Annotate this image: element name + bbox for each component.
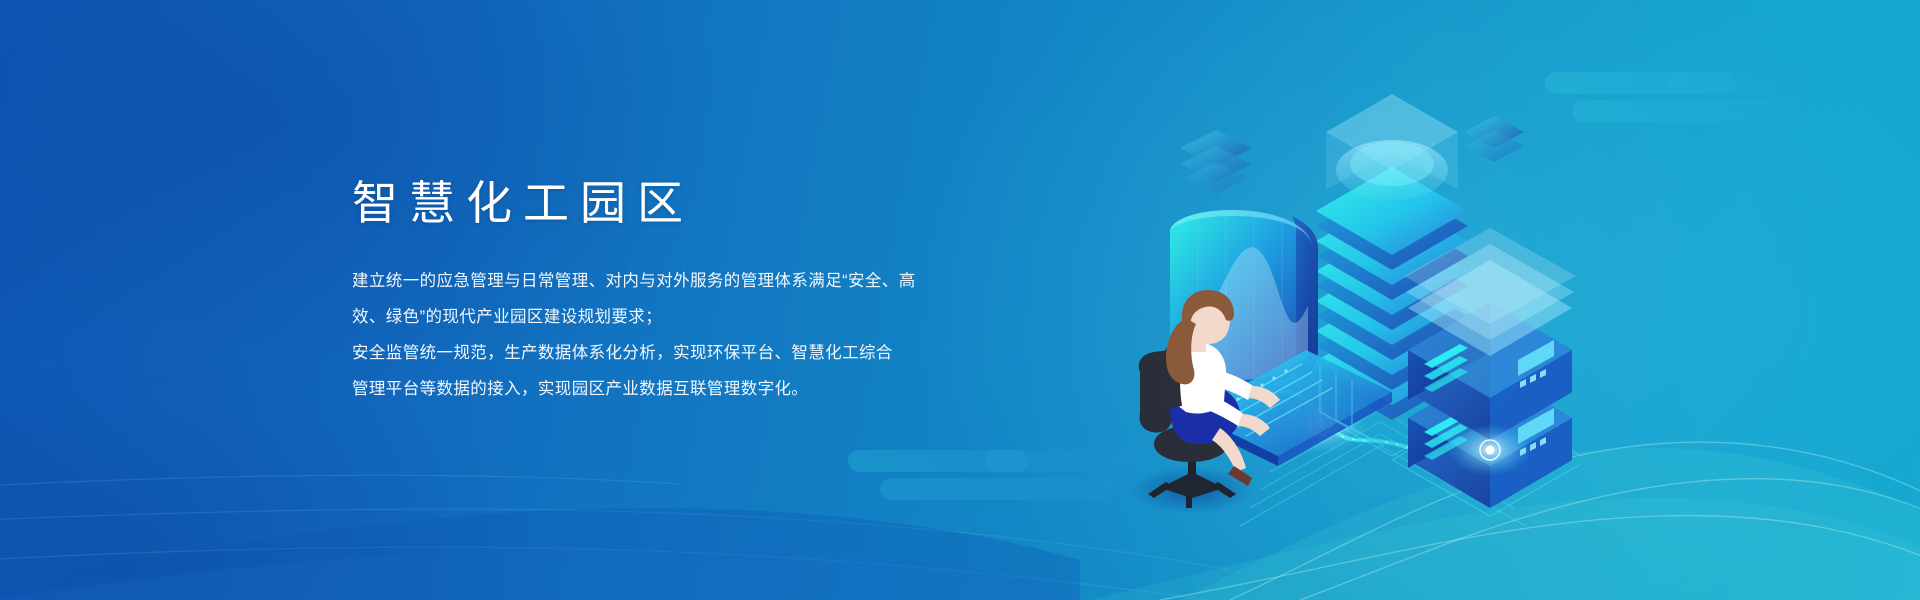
description-line-4: 管理平台等数据的接入，实现园区产业数据互联管理数字化。 (352, 371, 1072, 407)
floating-cube (1180, 130, 1252, 194)
description-line-3: 安全监管统一规范，生产数据体系化分析，实现环保平台、智慧化工综合 (352, 335, 1072, 371)
hero-description: 建立统一的应急管理与日常管理、对内与对外服务的管理体系满足“安全、高 效、绿色”… (352, 263, 1072, 407)
cloud-bar-top-right-3 (1668, 72, 1808, 94)
description-line-1: 建立统一的应急管理与日常管理、对内与对外服务的管理体系满足“安全、高 (352, 263, 1072, 299)
hero-banner: 智慧化工园区 建立统一的应急管理与日常管理、对内与对外服务的管理体系满足“安全、… (0, 0, 1920, 600)
cloud-bar-top-right-2 (1572, 100, 1802, 122)
description-line-2: 效、绿色”的现代产业园区建设规划要求； (352, 299, 1072, 335)
page-title: 智慧化工园区 (352, 178, 1072, 229)
isometric-smart-chemical-park-illustration (1020, 20, 1580, 580)
floating-cube-top (1464, 116, 1524, 162)
hero-copy: 智慧化工园区 建立统一的应急管理与日常管理、对内与对外服务的管理体系满足“安全、… (352, 178, 1072, 407)
cloud-bar-bottom-left (848, 450, 1028, 472)
